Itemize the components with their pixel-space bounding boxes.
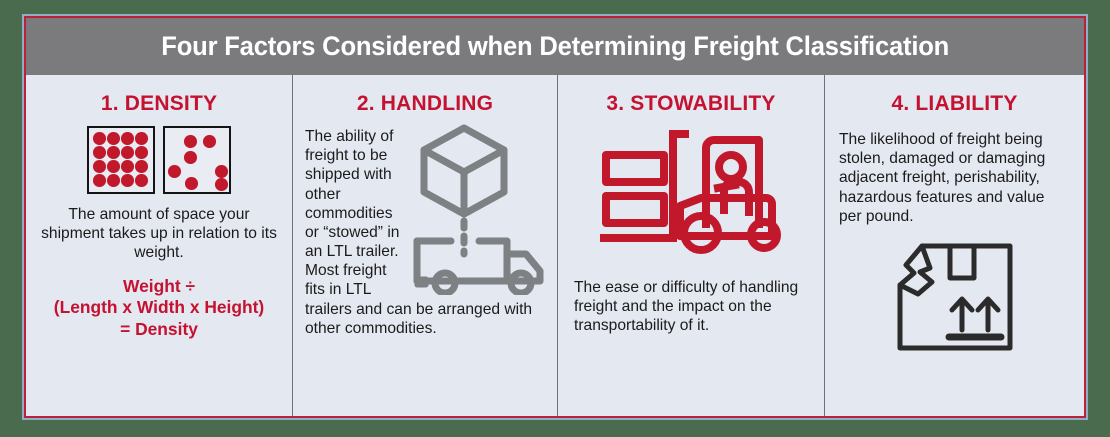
- factor-columns: 1. DENSITY: [26, 75, 1084, 416]
- column-body-density: The amount of space your shipment takes …: [38, 205, 280, 263]
- damaged-box-icon-wrap: [837, 238, 1072, 356]
- forklift-icon: [596, 128, 786, 256]
- sparse-box-icon: [163, 126, 231, 194]
- damaged-box-icon: [892, 238, 1018, 356]
- column-heading-liability: 4. LIABILITY: [837, 92, 1072, 116]
- column-heading-density: 1. DENSITY: [38, 92, 280, 116]
- dense-box-icon: [87, 126, 155, 194]
- column-body-liability: The likelihood of freight being stolen, …: [837, 130, 1072, 226]
- header-bar: Four Factors Considered when Determining…: [26, 18, 1084, 75]
- column-density: 1. DENSITY: [26, 75, 292, 416]
- page-title: Four Factors Considered when Determining…: [161, 31, 949, 62]
- column-body-stowability: The ease or difficulty of handling freig…: [570, 278, 812, 336]
- forklift-icon-wrap: [570, 128, 812, 256]
- density-formula: Weight ÷ (Length x Width x Height) = Den…: [38, 276, 280, 342]
- infographic-panel: Four Factors Considered when Determining…: [22, 14, 1088, 420]
- density-formula-line-2: (Length x Width x Height): [38, 297, 280, 319]
- column-stowability: 3. STOWABILITY: [557, 75, 824, 416]
- density-formula-line-1: Weight ÷: [38, 276, 280, 298]
- handling-content: The ability of freight to be shipped wit…: [305, 127, 545, 338]
- infographic-frame: Four Factors Considered when Determining…: [24, 16, 1086, 418]
- density-formula-line-3: = Density: [38, 319, 280, 341]
- column-handling: 2. HANDLING: [292, 75, 557, 416]
- cube-and-truck-icon: [409, 123, 549, 295]
- column-liability: 4. LIABILITY The likelihood of freight b…: [824, 75, 1084, 416]
- density-dot-boxes-icon: [38, 126, 280, 194]
- column-heading-stowability: 3. STOWABILITY: [570, 92, 812, 116]
- column-heading-handling: 2. HANDLING: [305, 92, 545, 116]
